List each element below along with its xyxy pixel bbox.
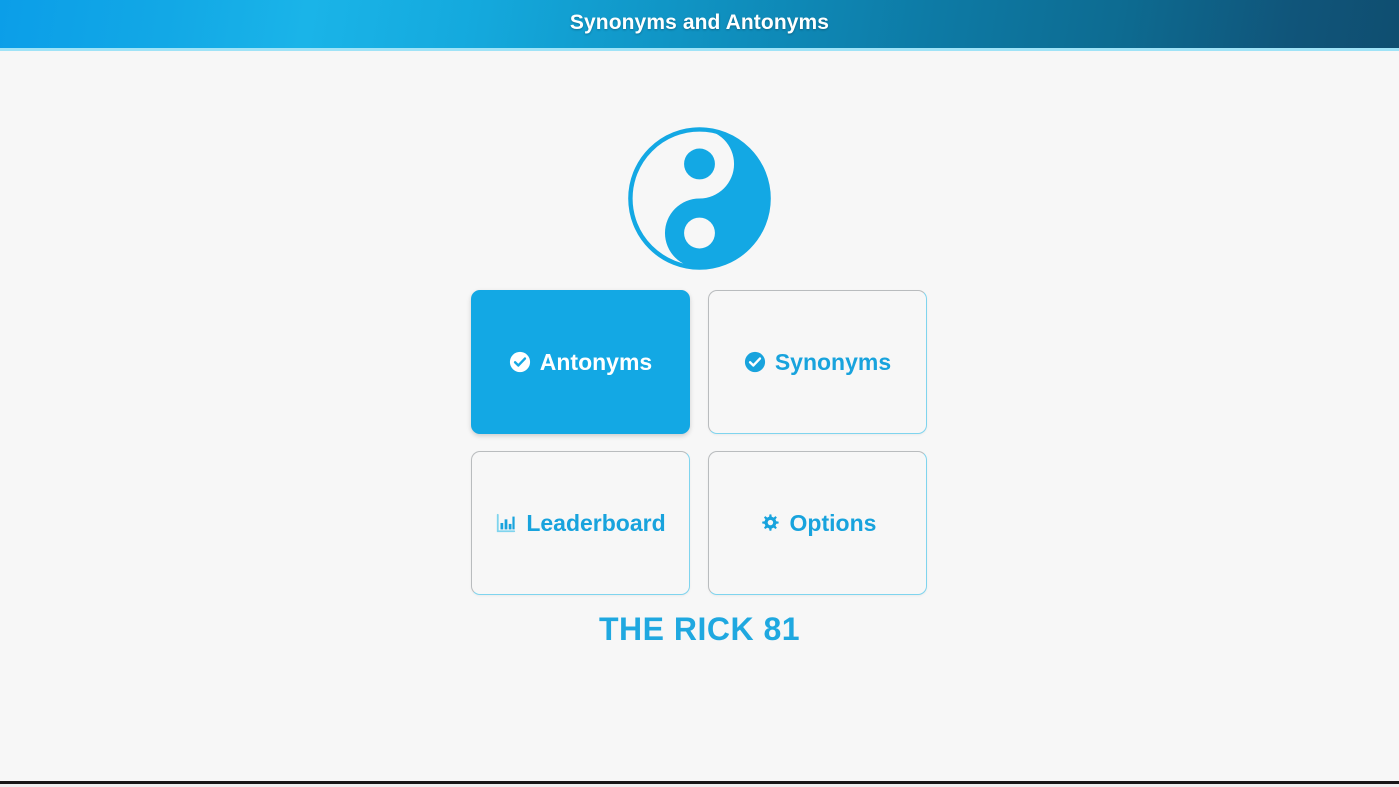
app-title-bar: Synonyms and Antonyms bbox=[0, 0, 1399, 51]
antonyms-button[interactable]: Antonyms bbox=[471, 290, 690, 434]
antonyms-button-label: Antonyms bbox=[540, 349, 652, 376]
bar-chart-icon bbox=[495, 512, 517, 534]
leaderboard-button-label: Leaderboard bbox=[526, 510, 665, 537]
antonyms-button-content: Antonyms bbox=[509, 349, 652, 376]
leaderboard-button[interactable]: Leaderboard bbox=[471, 451, 690, 595]
gear-icon bbox=[759, 512, 781, 534]
app-title: Synonyms and Antonyms bbox=[570, 11, 829, 35]
options-button-content: Options bbox=[759, 510, 877, 537]
username-label: THE RICK 81 bbox=[0, 611, 1399, 648]
synonyms-button-content: Synonyms bbox=[744, 349, 891, 376]
yin-yang-icon bbox=[626, 125, 773, 272]
options-button-label: Options bbox=[790, 510, 877, 537]
yin-yang-logo bbox=[626, 125, 773, 272]
synonyms-button[interactable]: Synonyms bbox=[708, 290, 927, 434]
check-circle-icon bbox=[744, 351, 766, 373]
options-button[interactable]: Options bbox=[708, 451, 927, 595]
main-menu: Antonyms Synonyms bbox=[471, 290, 927, 595]
main-content: Antonyms Synonyms bbox=[0, 51, 1399, 781]
leaderboard-button-content: Leaderboard bbox=[495, 510, 665, 537]
check-circle-icon bbox=[509, 351, 531, 373]
synonyms-button-label: Synonyms bbox=[775, 349, 891, 376]
